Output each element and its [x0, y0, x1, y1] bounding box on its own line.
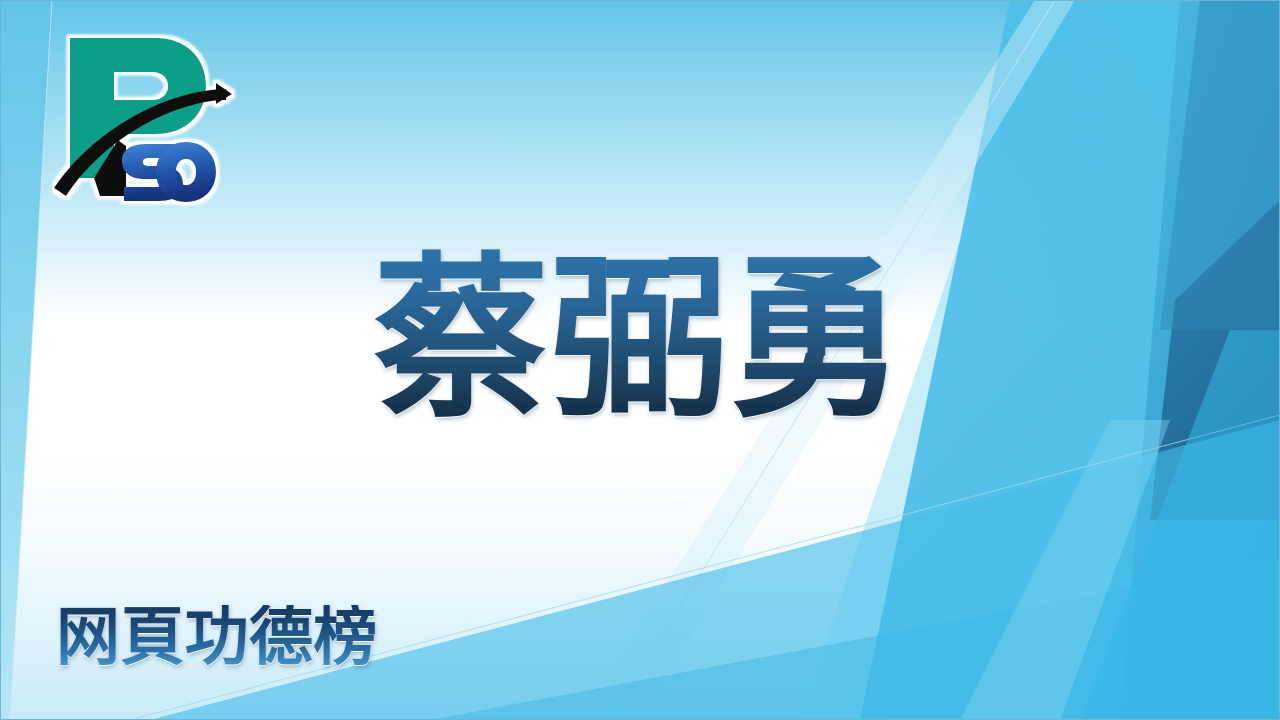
title-container: 蔡弼勇	[0, 248, 1280, 433]
logo-letters-so	[122, 142, 216, 202]
title-slide: 蔡弼勇 网頁功德榜	[0, 0, 1280, 720]
subtitle-container: 网頁功德榜	[56, 605, 378, 672]
pso-logo	[52, 28, 237, 208]
page-title: 蔡弼勇	[373, 248, 906, 433]
slide-subtitle: 网頁功德榜	[56, 605, 378, 672]
